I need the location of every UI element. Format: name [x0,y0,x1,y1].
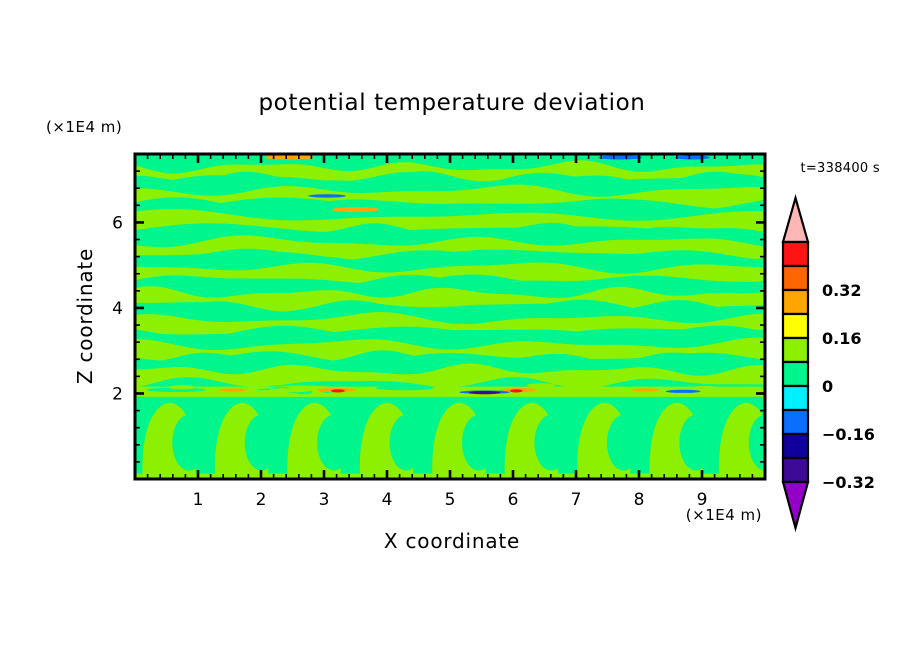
x-axis-unit: (×1E4 m) [686,506,762,524]
x-tick-label: 4 [382,490,393,510]
x-tick-label: 2 [256,490,267,510]
colorbar-segment[interactable] [783,290,808,314]
colorbar-label: −0.16 [822,425,875,444]
y-tick-label: 6 [112,213,123,233]
colorbar-segment[interactable] [783,266,808,290]
colorbar-label: 0.16 [822,329,861,348]
x-tick-label: 3 [319,490,330,510]
colorbar-segment[interactable] [783,314,808,338]
colorbar-label: −0.32 [822,473,875,492]
colorbar-segment[interactable] [783,386,808,410]
colorbar-label: 0.32 [822,281,861,300]
x-tick-label: 6 [508,490,519,510]
colorbar-segment[interactable] [783,410,808,434]
colorbar-segment[interactable] [783,242,808,266]
timestamp-label: t=338400 s [800,161,880,176]
colorbar-segment[interactable] [783,434,808,458]
y-axis-label: Z coordinate [73,248,97,384]
x-tick-label: 8 [634,490,645,510]
colorbar-segment[interactable] [783,458,808,482]
colorbar[interactable] [783,198,808,528]
contour-plot-figure: potential temperature deviation (×1E4 m)… [0,0,904,654]
x-tick-label: 5 [445,490,456,510]
y-tick-label: 4 [112,299,123,319]
y-tick-label: 2 [112,384,123,404]
x-tick-label: 7 [571,490,582,510]
x-axis-label: X coordinate [384,529,520,553]
figure-canvas: potential temperature deviation (×1E4 m)… [0,0,904,654]
colorbar-segment[interactable] [783,338,808,362]
y-axis-unit: (×1E4 m) [46,118,122,136]
page-title: potential temperature deviation [258,90,645,116]
x-tick-label: 1 [193,490,204,510]
colorbar-label: 0 [822,377,833,396]
colorbar-segment[interactable] [783,362,808,386]
plot-area [135,149,782,479]
